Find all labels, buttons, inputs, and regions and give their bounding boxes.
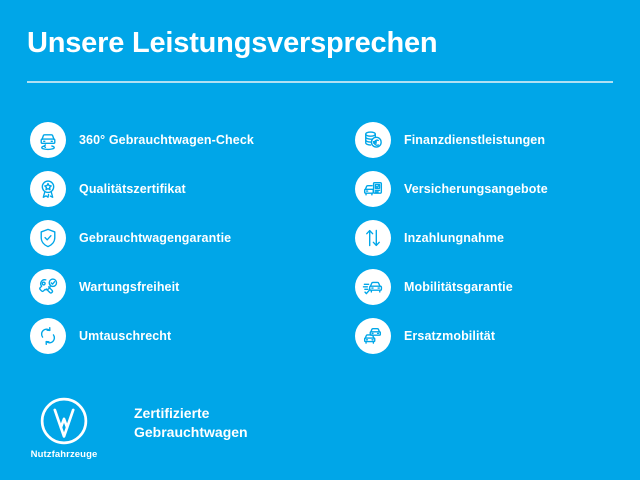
benefit-item: Qualitätszertifikat (30, 171, 330, 207)
footer-headline-line1: Zertifizierte (134, 404, 248, 423)
brand-subline: Nutzfahrzeuge (31, 449, 98, 460)
benefit-label: Wartungsfreiheit (79, 280, 179, 294)
benefit-label: Gebrauchtwagengarantie (79, 231, 231, 245)
car-document-check-icon (355, 171, 391, 207)
slide-canvas: Unsere Leistungsversprechen 360° Gebrauc… (0, 0, 640, 480)
benefit-item: Versicherungsangebote (355, 171, 625, 207)
benefit-column-right: Finanzdienstleistungen Versicheru (355, 122, 625, 367)
benefit-item: Finanzdienstleistungen (355, 122, 625, 158)
award-rosette-icon (30, 171, 66, 207)
benefit-label: Finanzdienstleistungen (404, 133, 545, 147)
benefit-item: 360° Gebrauchtwagen-Check (30, 122, 330, 158)
benefit-item: Mobilitätsgarantie (355, 269, 625, 305)
page-title: Unsere Leistungsversprechen (27, 27, 613, 60)
car-motion-check-icon (355, 269, 391, 305)
title-divider (27, 81, 613, 83)
benefits-section: 360° Gebrauchtwagen-Check Qualitätszerti… (0, 122, 640, 367)
exchange-arrows-icon (30, 318, 66, 354)
benefit-label: Versicherungsangebote (404, 182, 548, 196)
brand-lockup: Nutzfahrzeuge (30, 396, 98, 460)
two-cars-icon (355, 318, 391, 354)
benefit-label: Qualitätszertifikat (79, 182, 186, 196)
benefit-label: Inzahlungnahme (404, 231, 504, 245)
benefit-column-left: 360° Gebrauchtwagen-Check Qualitätszerti… (30, 122, 330, 367)
title-block: Unsere Leistungsversprechen (27, 27, 613, 83)
benefit-item: Ersatzmobilität (355, 318, 625, 354)
benefit-item: Gebrauchtwagengarantie (30, 220, 330, 256)
shield-check-icon (30, 220, 66, 256)
car-360-check-icon (30, 122, 66, 158)
footer-headline: Zertifizierte Gebrauchtwagen (134, 404, 248, 442)
benefit-item: Inzahlungnahme (355, 220, 625, 256)
wrench-check-icon (30, 269, 66, 305)
up-down-arrows-icon (355, 220, 391, 256)
benefit-item: Umtauschrecht (30, 318, 330, 354)
benefit-item: Wartungsfreiheit (30, 269, 330, 305)
benefit-label: Umtauschrecht (79, 329, 171, 343)
benefit-label: Mobilitätsgarantie (404, 280, 513, 294)
coins-euro-icon (355, 122, 391, 158)
footer-brand-lockup: Nutzfahrzeuge Zertifizierte Gebrauchtwag… (30, 396, 248, 460)
volkswagen-logo (39, 396, 89, 446)
benefit-label: Ersatzmobilität (404, 329, 495, 343)
benefit-label: 360° Gebrauchtwagen-Check (79, 133, 254, 147)
footer-headline-line2: Gebrauchtwagen (134, 423, 248, 442)
